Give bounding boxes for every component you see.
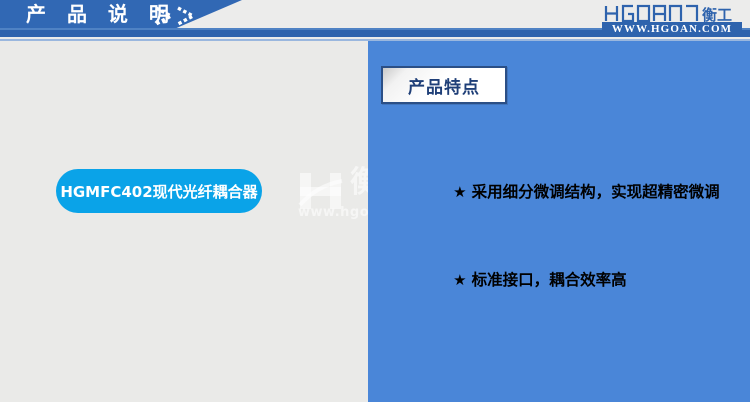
product-title-label: HGMFC402现代光纤耦合器: [60, 181, 257, 202]
brand-logo-mark: 衡工: [602, 4, 742, 23]
right-feature-panel: 产品特点 ★采用细分微调结构，实现超精密微调 ★标准接口，耦合效率高: [368, 41, 750, 402]
list-item: ★标准接口，耦合效率高: [410, 241, 740, 319]
brand-logo-url: WWW.HGOAN.COM: [602, 22, 742, 36]
list-item-label: 采用细分微调结构，实现超精密微调: [472, 183, 720, 201]
feature-section-heading: 产品特点: [381, 66, 507, 104]
star-bullet-icon: ★: [453, 183, 466, 201]
list-item-label: 标准接口，耦合效率高: [472, 271, 627, 289]
feature-section-title: 产品特点: [408, 73, 480, 98]
feature-list: ★采用细分微调结构，实现超精密微调 ★标准接口，耦合效率高: [410, 153, 740, 329]
product-title-badge: HGMFC402现代光纤耦合器: [56, 169, 262, 213]
left-content-panel: HGMFC402现代光纤耦合器: [0, 41, 368, 402]
list-item: ★采用细分微调结构，实现超精密微调: [410, 153, 740, 231]
double-chevron-right-icon: [152, 5, 214, 27]
brand-logo: 衡工 WWW.HGOAN.COM: [602, 4, 742, 38]
slide-canvas: 产 品 说 明: [0, 0, 750, 402]
svg-text:衡工: 衡工: [702, 6, 732, 23]
star-bullet-icon: ★: [453, 271, 466, 289]
